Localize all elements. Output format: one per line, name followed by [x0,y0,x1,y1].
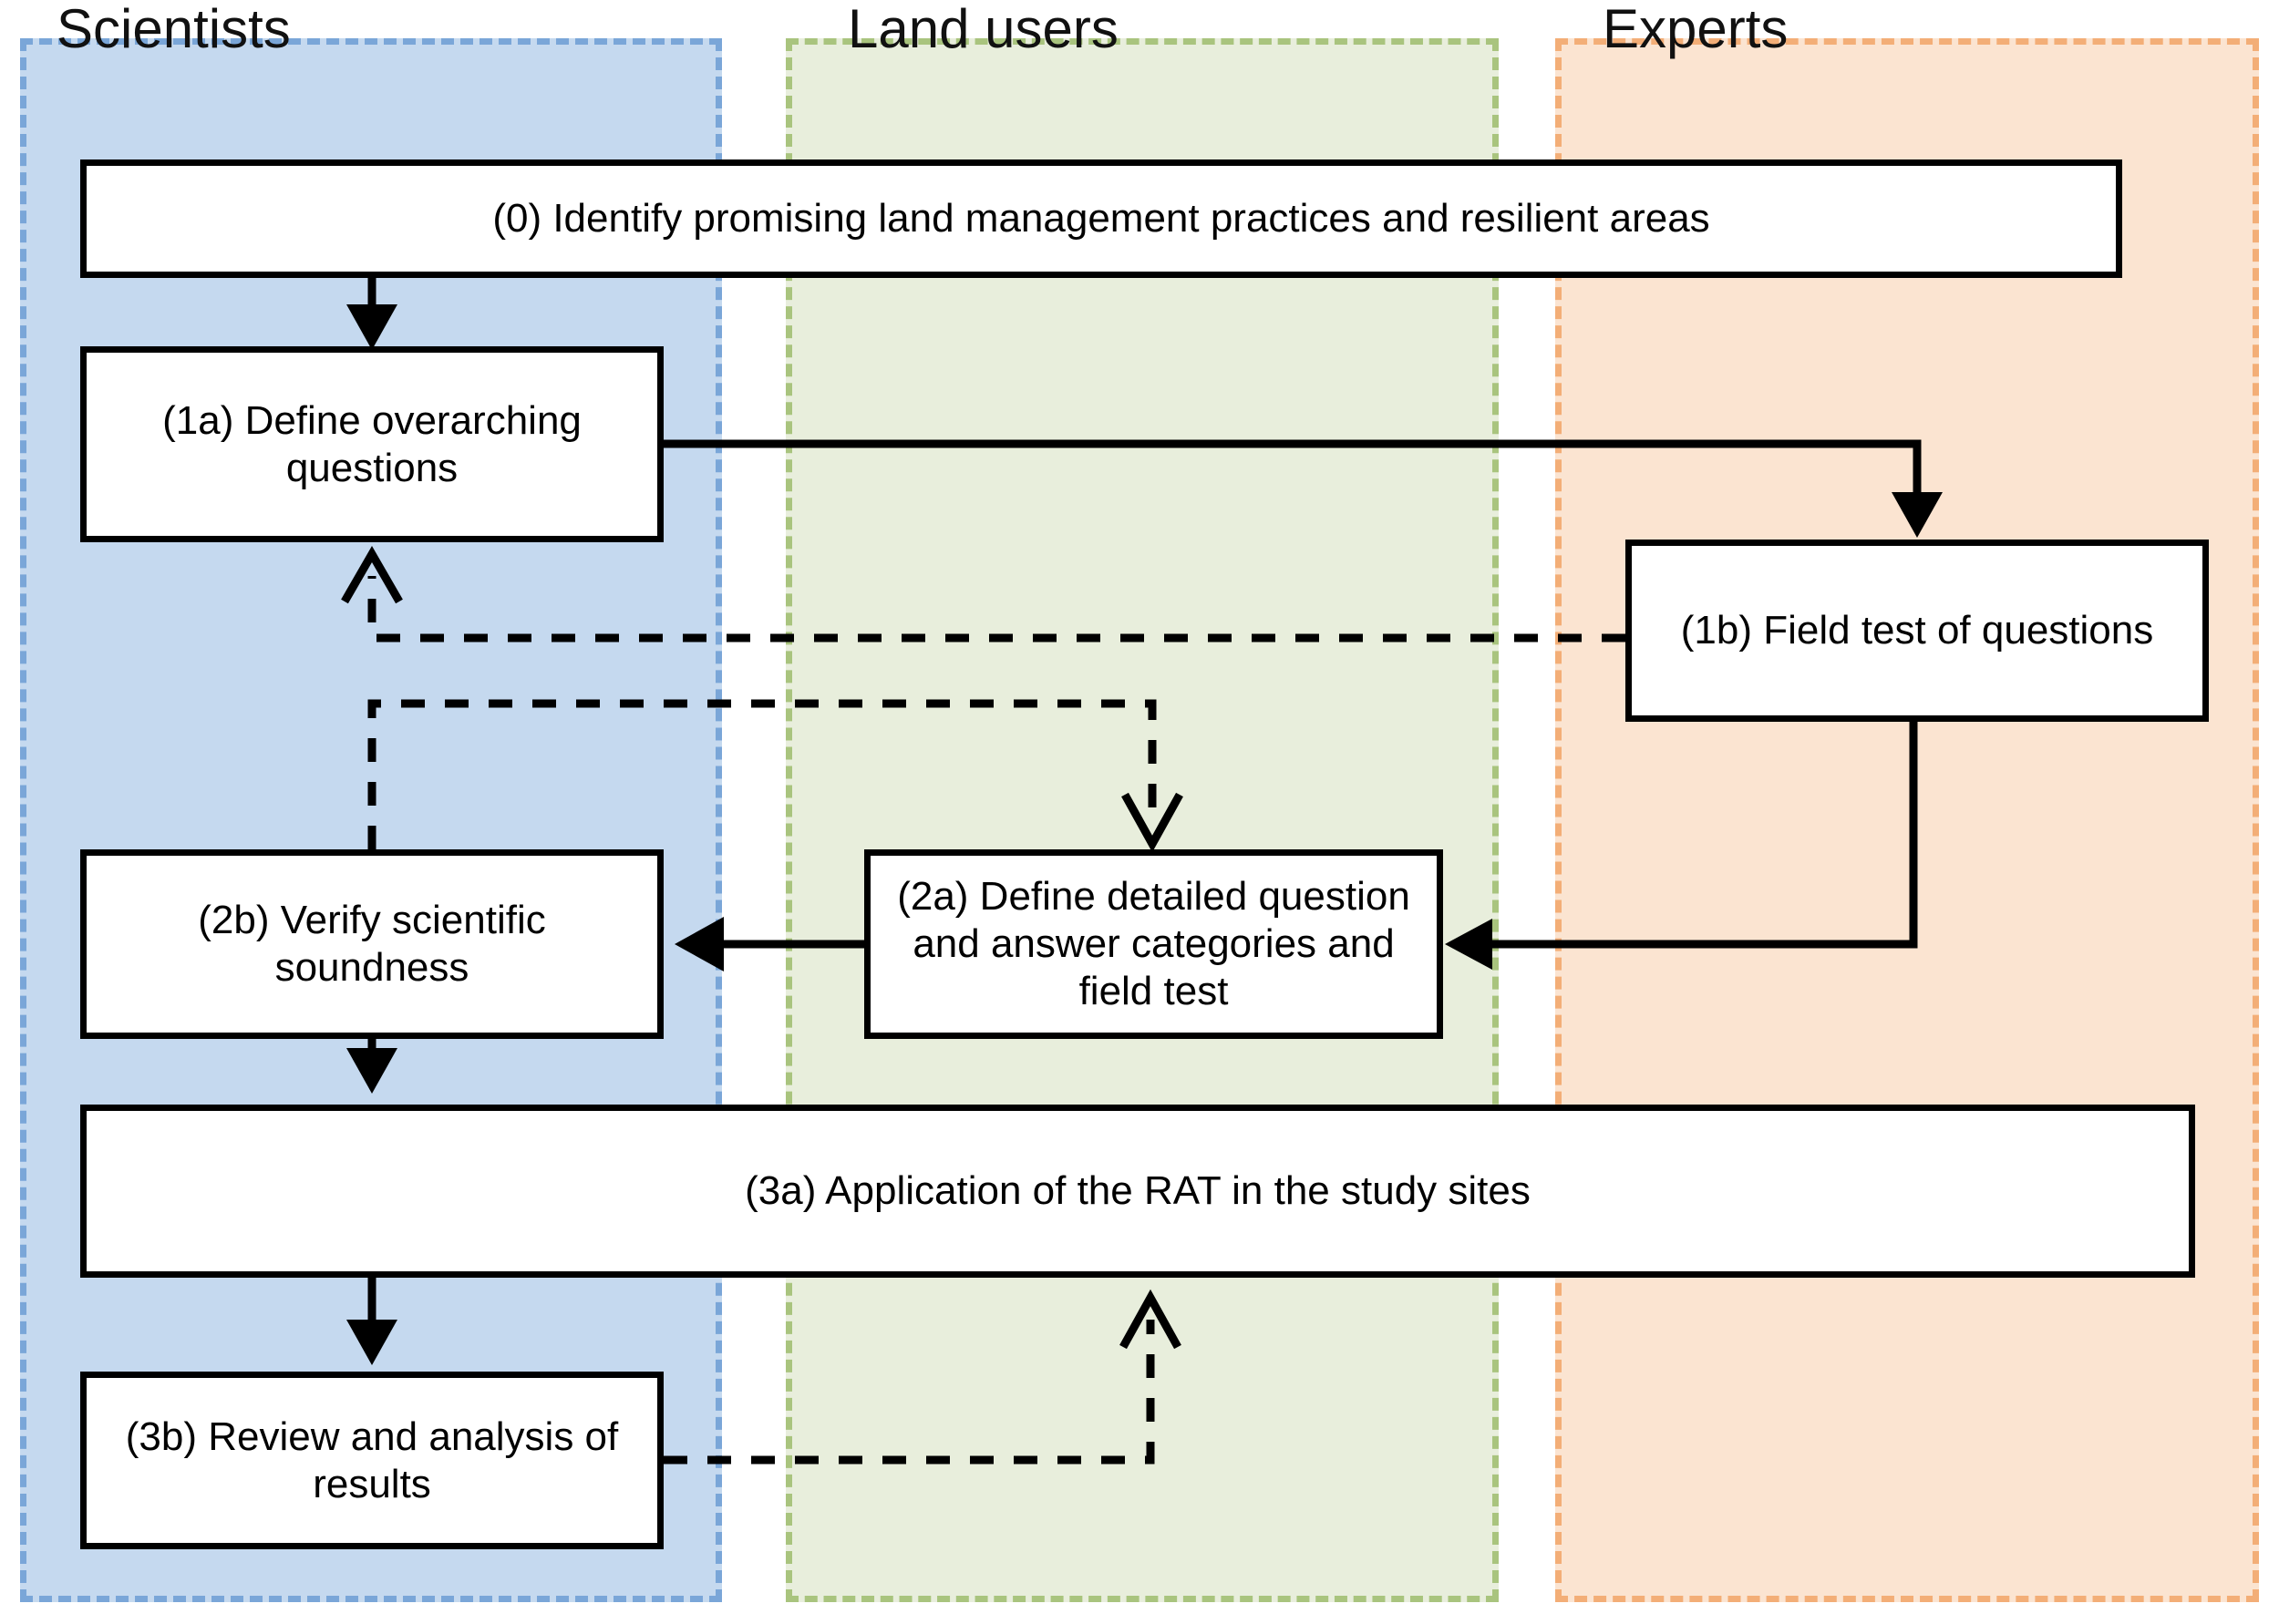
process-node-label: (2b) Verify scientific soundness [98,897,646,992]
process-node-step-0[interactable]: (0) Identify promising land management p… [80,159,2122,278]
process-node-label: (0) Identify promising land management p… [492,195,1709,242]
flowchart-canvas: Scientists Land users Experts [0,0,2279,1624]
process-node-step-1a[interactable]: (1a) Define overarching questions [80,346,664,542]
process-node-step-1b[interactable]: (1b) Field test of questions [1625,540,2209,722]
swimlane-title-scientists: Scientists [57,2,291,57]
swimlane-title-experts: Experts [1603,2,1788,57]
process-node-label: (2a) Define detailed question and answer… [882,873,1426,1015]
process-node-step-2b[interactable]: (2b) Verify scientific soundness [80,849,664,1039]
process-node-step-3a[interactable]: (3a) Application of the RAT in the study… [80,1105,2195,1278]
swimlane-title-land-users: Land users [848,2,1119,57]
process-node-label: (3b) Review and analysis of results [98,1413,646,1508]
process-node-label: (1a) Define overarching questions [98,397,646,492]
process-node-step-2a[interactable]: (2a) Define detailed question and answer… [864,849,1443,1039]
process-node-label: (3a) Application of the RAT in the study… [745,1167,1531,1215]
process-node-step-3b[interactable]: (3b) Review and analysis of results [80,1372,664,1549]
process-node-label: (1b) Field test of questions [1681,607,2153,654]
